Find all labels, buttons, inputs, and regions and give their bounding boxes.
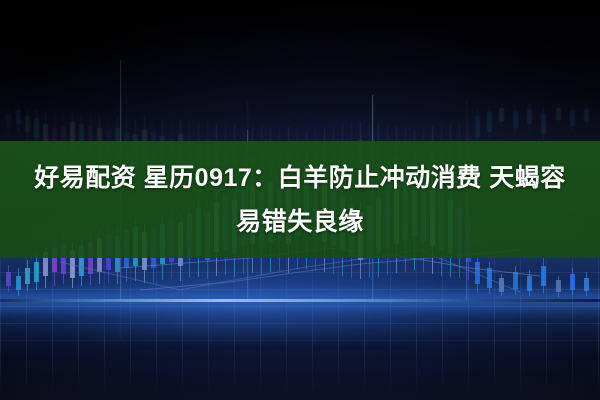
headline-line-2: 易错失良缘	[236, 202, 364, 242]
headline-block: 好易配资 星历0917：白羊防止冲动消费 天蝎容 易错失良缘	[0, 141, 600, 258]
banner-image: 好易配资 星历0917：白羊防止冲动消费 天蝎容 易错失良缘	[0, 0, 600, 400]
headline-line-1: 好易配资 星历0917：白羊防止冲动消费 天蝎容	[34, 158, 566, 198]
